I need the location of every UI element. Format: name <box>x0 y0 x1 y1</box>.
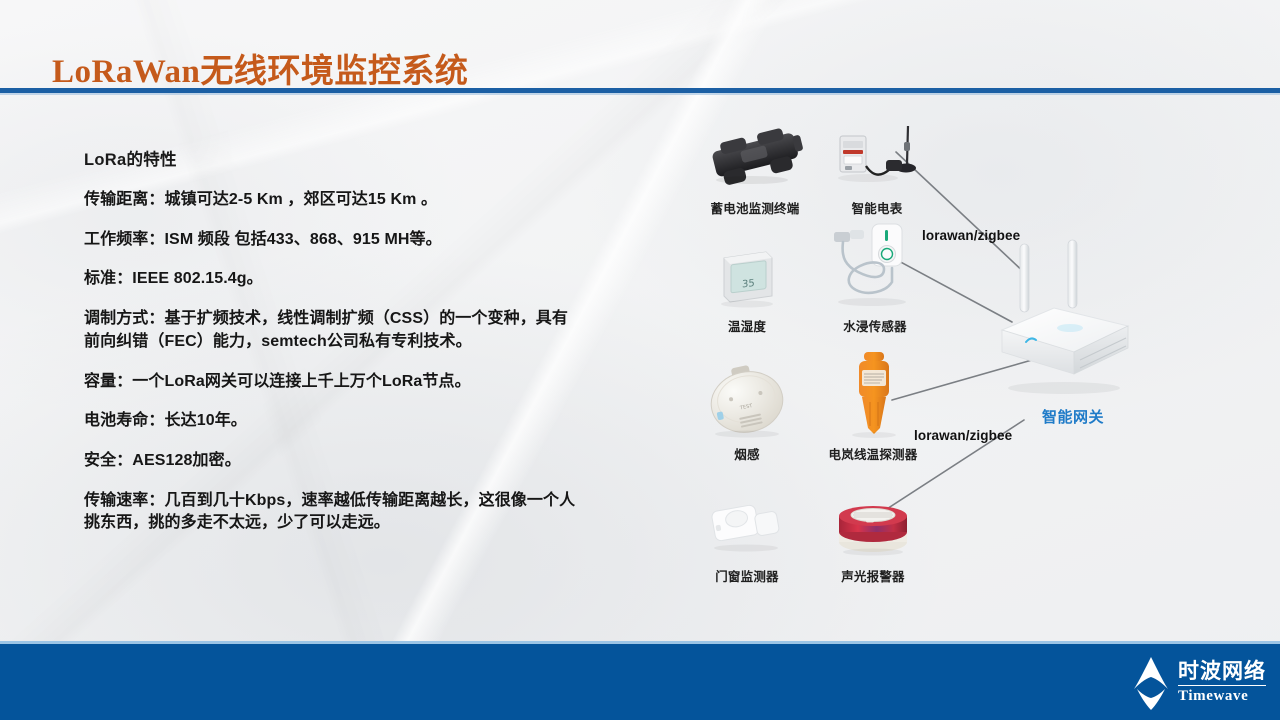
footer-bar <box>0 643 1280 720</box>
device-cable-temp: 电岚线温探测器 <box>808 350 938 463</box>
feature-item-range: 传输距离：城镇可达2-5 Km ，郊区可达15 Km 。 <box>84 189 584 212</box>
page-title-latin: LoRaWan <box>52 54 200 90</box>
device-battery-monitor: 蓄电池监测终端 <box>690 122 820 217</box>
page-title: LoRaWan无线环境监控系统 <box>52 44 468 92</box>
device-label: 温湿度 <box>682 316 812 335</box>
feature-item-battery: 电池寿命：长达10年。 <box>84 410 584 433</box>
wireless-gateway-router-icon <box>978 238 1168 408</box>
svg-text:35: 35 <box>742 278 755 291</box>
feature-item-frequency: 工作频率：ISM 频段 包括433、868、915 MH等。 <box>84 229 584 252</box>
footer-highlight-line <box>0 641 1280 644</box>
feature-item-capacity: 容量：一个LoRa网关可以连接上千上万个LoRa节点。 <box>84 371 584 394</box>
device-label: 蓄电池监测终端 <box>690 198 820 217</box>
device-water-leak: 水浸传感器 <box>810 222 940 335</box>
device-label: 电岚线温探测器 <box>808 444 938 463</box>
logo-name-cn: 时波网络 <box>1178 661 1266 686</box>
feature-list: LoRa的特性 传输距离：城镇可达2-5 Km ，郊区可达15 Km 。 工作频… <box>84 146 584 535</box>
logo-wordmark: 时波网络 Timewave <box>1178 661 1266 704</box>
smart-electricity-meter-icon <box>812 122 942 194</box>
logo-name-en: Timewave <box>1178 686 1266 704</box>
device-temp-humidity: 35 温湿度 <box>682 240 812 335</box>
company-logo: 时波网络 Timewave <box>1131 650 1266 714</box>
device-label: 烟感 <box>682 444 812 463</box>
door-window-detector-icon <box>682 490 812 562</box>
device-label: 门窗监测器 <box>682 566 812 585</box>
device-sound-light: 声光报警器 <box>808 490 938 585</box>
device-door-window: 门窗监测器 <box>682 490 812 585</box>
device-smart-meter: 智能电表 <box>812 122 942 217</box>
feature-list-heading: LoRa的特性 <box>84 146 584 170</box>
device-smoke: TEST 烟感 <box>682 362 812 463</box>
page-title-cjk: 无线环境监控系统 <box>200 52 468 89</box>
feature-item-modulation: 调制方式：基于扩频技术，线性调制扩频（CSS）的一个变种，具有前向纠错（FEC）… <box>84 308 584 353</box>
cable-temperature-detector-icon <box>808 350 938 440</box>
smoke-detector-icon: TEST <box>682 362 812 440</box>
feature-item-standard: 标准：IEEE 802.15.4g。 <box>84 268 584 291</box>
title-divider-highlight <box>0 93 1280 95</box>
slide-canvas: LoRaWan无线环境监控系统 LoRa的特性 传输距离：城镇可达2-5 Km … <box>0 0 1280 720</box>
wave-chevron-logo-icon <box>1131 653 1171 711</box>
water-leak-sensor-icon <box>810 222 940 312</box>
topology-diagram: lorawan/zigbee lorawan/zigbee <box>660 100 1280 620</box>
device-label: 智能电表 <box>812 198 942 217</box>
device-label: 声光报警器 <box>808 566 938 585</box>
gateway-label: 智能网关 <box>978 406 1168 427</box>
device-gateway: 智能网关 <box>978 238 1168 428</box>
device-label: 水浸传感器 <box>810 316 940 335</box>
temperature-humidity-sensor-icon: 35 <box>682 240 812 312</box>
feature-item-datarate: 传输速率：几百到几十Kbps，速率越低传输距离越长，这很像一个人挑东西，挑的多走… <box>84 490 584 535</box>
feature-item-security: 安全：AES128加密。 <box>84 450 584 473</box>
sound-light-alarm-icon <box>808 490 938 562</box>
battery-monitor-terminal-icon <box>690 122 820 194</box>
